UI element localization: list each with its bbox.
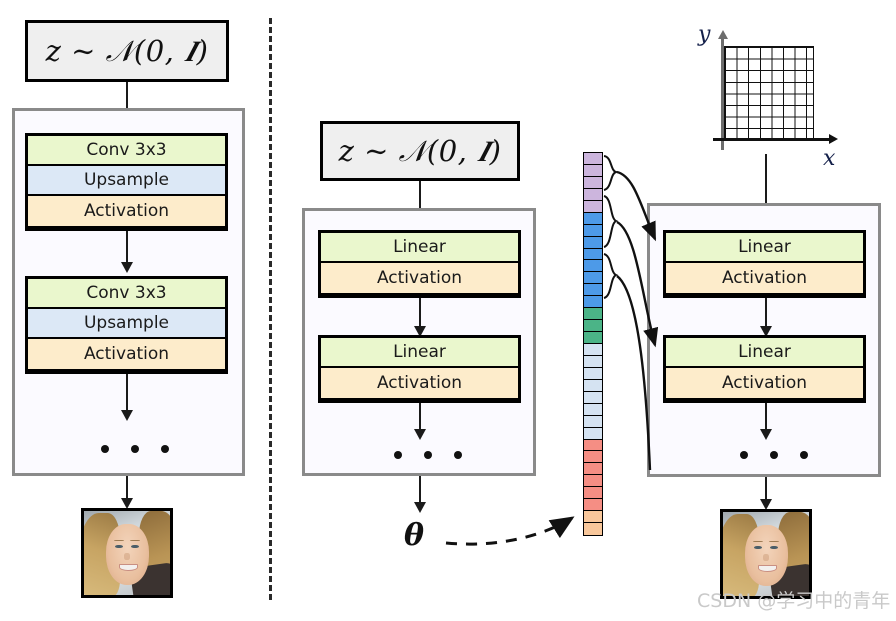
right-linear-block-1: Linear Activation xyxy=(663,230,866,298)
vector-cell-2 xyxy=(584,165,602,177)
theta-parameter-label: θ xyxy=(404,518,424,553)
vector-cell-23 xyxy=(584,416,602,428)
brace-to-right-linear-3 xyxy=(617,276,650,470)
y-axis-arrowhead xyxy=(718,30,728,39)
vector-cell-15 xyxy=(584,320,602,332)
vector-cell-31 xyxy=(584,511,602,523)
vector-cell-17 xyxy=(584,344,602,356)
left-conv-block-2: Conv 3x3 Upsample Activation xyxy=(25,276,228,374)
middle-block2-layer-linear: Linear xyxy=(321,338,518,368)
theta-weight-vector xyxy=(583,152,603,536)
vector-cell-18 xyxy=(584,356,602,368)
vector-brace-1 xyxy=(604,156,616,190)
right-block1-layer-linear: Linear xyxy=(666,233,863,263)
middle-block2-layer-activation: Activation xyxy=(321,368,518,398)
x-axis-arrowhead xyxy=(829,134,838,144)
vector-cell-14 xyxy=(584,308,602,320)
right-block2-layer-linear: Linear xyxy=(666,338,863,368)
right-block1-layer-activation: Activation xyxy=(666,263,863,293)
vector-cell-10 xyxy=(584,260,602,272)
middle-arrowhead-container-to-theta xyxy=(414,502,426,513)
panel-divider xyxy=(269,18,272,600)
vector-cell-1 xyxy=(584,153,602,165)
right-face-eye-left xyxy=(754,546,762,550)
right-linear-block-2: Linear Activation xyxy=(663,335,866,403)
vector-cell-16 xyxy=(584,332,602,344)
middle-arrowhead-block2-to-dots xyxy=(414,429,426,440)
middle-linear-block-1: Linear Activation xyxy=(318,230,521,298)
middle-ellipsis-dot-2 xyxy=(424,451,432,459)
left-face-eye-left xyxy=(115,545,123,549)
left-block1-layer-upsample: Upsample xyxy=(28,166,225,196)
vector-cell-22 xyxy=(584,404,602,416)
vector-cell-32 xyxy=(584,523,602,535)
pixel-coordinate-grid xyxy=(724,46,814,139)
right-arrowhead-block2-to-dots xyxy=(760,429,772,440)
left-arrowhead-block1-to-block2 xyxy=(121,262,133,273)
right-ellipsis-dot-2 xyxy=(770,451,778,459)
vector-cell-5 xyxy=(584,201,602,213)
middle-block1-layer-activation: Activation xyxy=(321,263,518,293)
left-block1-layer-activation: Activation xyxy=(28,196,225,226)
left-ellipsis-dot-1 xyxy=(101,445,109,453)
y-axis-label: y xyxy=(698,22,710,47)
figure-canvas: z ∼ 𝒩(0, 𝑰) Conv 3x3 Upsample Activation… xyxy=(0,0,896,621)
middle-ellipsis xyxy=(394,451,462,459)
vector-cell-9 xyxy=(584,249,602,261)
left-latent-box: z ∼ 𝒩(0, 𝑰) xyxy=(25,20,229,82)
left-block2-layer-activation: Activation xyxy=(28,339,225,369)
middle-ellipsis-dot-3 xyxy=(454,451,462,459)
vector-cell-29 xyxy=(584,487,602,499)
vector-cell-25 xyxy=(584,440,602,452)
middle-block1-layer-linear: Linear xyxy=(321,233,518,263)
vector-cell-6 xyxy=(584,213,602,225)
vector-cell-20 xyxy=(584,380,602,392)
watermark: CSDN @学习中的青年 xyxy=(697,586,890,613)
left-latent-label: z ∼ 𝒩(0, 𝑰) xyxy=(46,34,209,69)
coordinate-plot: y x xyxy=(684,24,864,154)
vector-cell-12 xyxy=(584,284,602,296)
vector-cell-3 xyxy=(584,177,602,189)
vector-cell-21 xyxy=(584,392,602,404)
left-face-nose xyxy=(124,553,129,560)
left-conv-block-1: Conv 3x3 Upsample Activation xyxy=(25,133,228,231)
right-ellipsis xyxy=(740,451,808,459)
vector-cell-24 xyxy=(584,428,602,440)
vector-cell-8 xyxy=(584,237,602,249)
vector-cell-27 xyxy=(584,463,602,475)
left-ellipsis-dot-2 xyxy=(131,445,139,453)
vector-cell-13 xyxy=(584,296,602,308)
left-ellipsis xyxy=(101,445,169,453)
left-block2-layer-conv: Conv 3x3 xyxy=(28,279,225,309)
left-block2-layer-upsample: Upsample xyxy=(28,309,225,339)
middle-linear-block-2: Linear Activation xyxy=(318,335,521,403)
theta-to-vector-dashed-arrow xyxy=(446,518,572,544)
vector-cell-26 xyxy=(584,451,602,463)
vector-cell-7 xyxy=(584,225,602,237)
middle-latent-label: z ∼ 𝒩(0, 𝑰) xyxy=(339,134,502,169)
left-arrowhead-block2-to-dots xyxy=(121,410,133,421)
x-axis-label: x xyxy=(823,146,835,171)
right-ellipsis-dot-1 xyxy=(740,451,748,459)
right-block2-layer-activation: Activation xyxy=(666,368,863,398)
middle-ellipsis-dot-1 xyxy=(394,451,402,459)
left-block1-layer-conv: Conv 3x3 xyxy=(28,136,225,166)
vector-brace-3 xyxy=(604,254,616,298)
left-output-face-image xyxy=(81,508,173,598)
vector-cell-4 xyxy=(584,189,602,201)
left-ellipsis-dot-3 xyxy=(161,445,169,453)
right-ellipsis-dot-3 xyxy=(800,451,808,459)
middle-latent-box: z ∼ 𝒩(0, 𝑰) xyxy=(320,121,520,181)
vector-cell-11 xyxy=(584,272,602,284)
vector-brace-2 xyxy=(604,196,616,247)
right-face-nose xyxy=(763,554,768,561)
vector-cell-30 xyxy=(584,499,602,511)
vector-cell-28 xyxy=(584,475,602,487)
vector-cell-19 xyxy=(584,368,602,380)
